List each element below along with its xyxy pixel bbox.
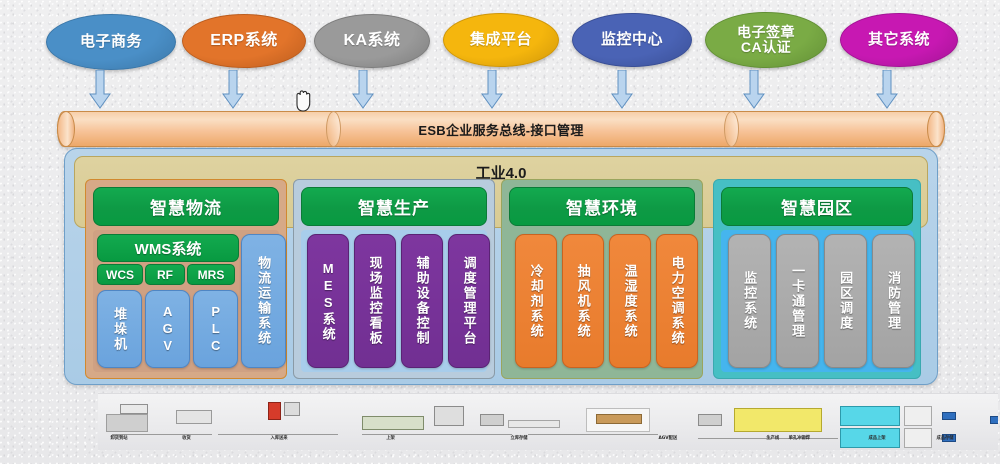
external-system-label: KA系统: [343, 32, 400, 49]
industry40-container: 工业4.0 智慧物流WMS系统WCSRFMRS堆垛机AGVPLC物流运输系统智慧…: [64, 148, 938, 385]
system-chip-4-4[interactable]: 消防管理: [872, 234, 915, 368]
system-chip-2-1[interactable]: MES系统: [307, 234, 349, 368]
pillar-body-4: 监控系统一卡通管理园区调度消防管理: [721, 230, 913, 372]
pillar-body-1: WMS系统WCSRFMRS堆垛机AGVPLC物流运输系统: [93, 230, 279, 372]
external-system-ellipse-6[interactable]: 电子签章CA认证: [705, 12, 827, 68]
forklift-icon: [434, 406, 464, 426]
esb-left-cap: [57, 111, 75, 147]
external-system-ellipse-3[interactable]: KA系统: [314, 14, 430, 68]
process-stage-label-6: AGV配送: [658, 435, 677, 441]
external-system-label: ERP系统: [210, 32, 277, 49]
system-chip-2-2[interactable]: 现场监控看板: [354, 234, 396, 368]
wms-system-box[interactable]: WMS系统: [97, 234, 239, 262]
crane-icon: [120, 404, 148, 414]
process-stage-label-10: 成品存储: [936, 435, 953, 441]
system-chip-4-2[interactable]: 一卡通管理: [776, 234, 819, 368]
production-line-thumb-1: [840, 406, 900, 426]
pillar-header-3[interactable]: 智慧环境: [509, 187, 695, 226]
process-stage-label-1: 卸货到站: [110, 435, 127, 441]
esb-right-cap: [927, 111, 945, 147]
external-system-label: 电子签章CA认证: [737, 25, 795, 55]
pillar-panel-1[interactable]: 智慧物流WMS系统WCSRFMRS堆垛机AGVPLC物流运输系统: [85, 179, 287, 379]
pillar-panel-2[interactable]: 智慧生产MES系统现场监控看板辅助设备控制调度管理平台: [293, 179, 495, 379]
external-system-label: 集成平台: [470, 32, 532, 48]
conveyor-node-3: [990, 416, 998, 424]
system-chip-4-1[interactable]: 监控系统: [728, 234, 771, 368]
pallet-stack-icon: [106, 414, 148, 432]
process-stage-label-4: 上架: [386, 435, 395, 441]
system-chip-1-2[interactable]: AGV: [145, 290, 190, 368]
floor-rail-icon: [508, 420, 560, 428]
external-system-ellipse-7[interactable]: 其它系统: [840, 13, 958, 67]
process-stage-label-2: 收货: [182, 435, 191, 441]
down-arrow-icon-2: [222, 70, 244, 110]
system-chip-2-4[interactable]: 调度管理平台: [448, 234, 490, 368]
down-arrow-icon-3: [352, 70, 374, 110]
esb-label: ESB企业服务总线-接口管理: [418, 120, 583, 139]
pillar-panel-4[interactable]: 智慧园区监控系统一卡通管理园区调度消防管理: [713, 179, 921, 379]
process-stage-label-8: 单孔冲铆焊: [789, 435, 810, 441]
system-chip-2-3[interactable]: 辅助设备控制: [401, 234, 443, 368]
wms-subsystem-chip-1[interactable]: WCS: [97, 264, 143, 285]
pillar-body-3: 冷却剂系统抽风机系统温湿度系统电力空调系统: [509, 230, 695, 372]
down-arrow-icon-4: [481, 70, 503, 110]
system-chip-1-4[interactable]: 物流运输系统: [241, 234, 286, 368]
rack-shelf-icon: [480, 414, 504, 426]
wms-subsystem-chip-2[interactable]: RF: [145, 264, 185, 285]
system-chip-3-4[interactable]: 电力空调系统: [656, 234, 698, 368]
conveyor-node-1: [942, 412, 956, 420]
external-system-label: 电子商务: [80, 34, 142, 50]
steel-rail-icon: [596, 414, 642, 424]
unloading-truck-icon: [176, 410, 212, 424]
agv-base-icon: [698, 414, 722, 426]
esb-bus-bar[interactable]: ESB企业服务总线-接口管理: [57, 111, 945, 147]
welding-machine-icon-2: [904, 428, 932, 448]
process-stage-label-5: 立库存储: [510, 435, 527, 441]
pillar-header-2[interactable]: 智慧生产: [301, 187, 487, 226]
process-stage-label-3: 入库送来: [270, 435, 287, 441]
monitor-icon: [284, 402, 300, 416]
traffic-light-icon: [268, 402, 281, 420]
pillar-body-2: MES系统现场监控看板辅助设备控制调度管理平台: [301, 230, 487, 372]
down-arrow-icon-5: [611, 70, 633, 110]
pillar-header-1[interactable]: 智慧物流: [93, 187, 279, 226]
external-system-ellipse-4[interactable]: 集成平台: [443, 13, 559, 67]
process-stage-label-9: 成品上架: [868, 435, 885, 441]
system-chip-3-3[interactable]: 温湿度系统: [609, 234, 651, 368]
process-baseline: [362, 434, 512, 435]
external-system-ellipse-1[interactable]: 电子商务: [46, 14, 176, 70]
wms-subsystem-chip-3[interactable]: MRS: [187, 264, 235, 285]
down-arrow-icon-7: [876, 70, 898, 110]
down-arrow-icon-1: [89, 70, 111, 110]
esb-seam-right: [724, 111, 739, 147]
external-system-ellipse-2[interactable]: ERP系统: [182, 14, 306, 68]
down-arrow-icon-6: [743, 70, 765, 110]
external-system-label: 监控中心: [601, 32, 663, 48]
system-chip-3-2[interactable]: 抽风机系统: [562, 234, 604, 368]
system-chip-1-3[interactable]: PLC: [193, 290, 238, 368]
system-chip-1-1[interactable]: 堆垛机: [97, 290, 142, 368]
conveyor-icon: [362, 416, 424, 430]
pillar-panel-3[interactable]: 智慧环境冷却剂系统抽风机系统温湿度系统电力空调系统: [501, 179, 703, 379]
welding-machine-icon-1: [904, 406, 932, 426]
process-baseline: [528, 434, 658, 435]
process-stage-label-7: 生产线: [766, 435, 779, 441]
external-system-label: 其它系统: [868, 32, 930, 48]
external-system-ellipse-5[interactable]: 监控中心: [572, 13, 692, 67]
system-chip-3-1[interactable]: 冷却剂系统: [515, 234, 557, 368]
pillar-header-4[interactable]: 智慧园区: [721, 187, 913, 226]
agv-platform-icon: [734, 408, 822, 432]
system-chip-4-3[interactable]: 园区调度: [824, 234, 867, 368]
process-strip: 卸货到站收货入库送来上架立库存储AGV配送生产线单孔冲铆焊成品上架成品存储装车: [98, 393, 998, 450]
hand-cursor: [291, 88, 313, 112]
esb-seam-left: [326, 111, 341, 147]
